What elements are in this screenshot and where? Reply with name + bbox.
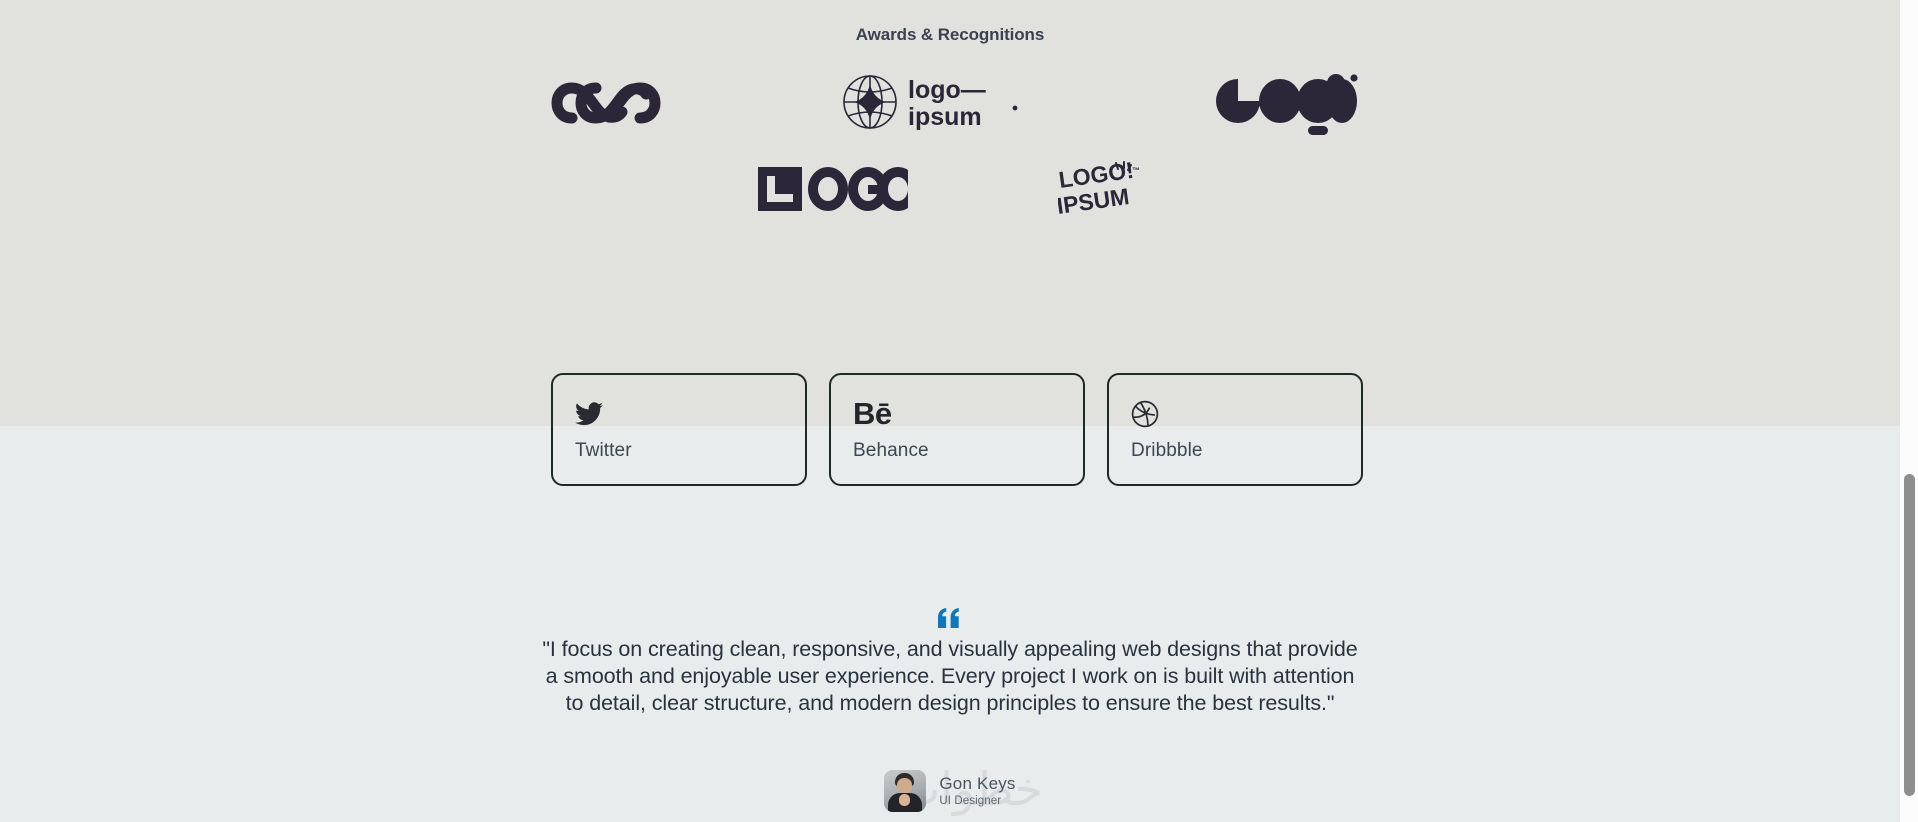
dribbble-ball-icon	[1131, 400, 1159, 428]
square-l-logo	[756, 150, 908, 230]
social-card-label: Twitter	[575, 440, 805, 462]
svg-text:logo—: logo—	[908, 76, 986, 104]
quote-author: Gon Keys UI Designer	[0, 770, 1900, 812]
svg-text:ipsum: ipsum	[908, 103, 982, 131]
scrollbar-gutter-top	[1882, 0, 1900, 426]
dribbble-icon	[1131, 397, 1361, 431]
quote-glyph-icon	[938, 608, 962, 628]
bold-logo-wordmark	[1210, 62, 1358, 142]
quote-mark-icon	[0, 604, 1900, 634]
social-card-behance[interactable]: Bē Behance	[829, 373, 1085, 486]
author-role: UI Designer	[939, 795, 1015, 808]
social-links-row: Twitter Bē Behance Dribbble	[551, 373, 1363, 486]
awards-logo-row-1: logo— ipsum	[0, 62, 1900, 142]
globe-logo-ipsum-icon: logo— ipsum	[840, 70, 1040, 134]
handwritten-logo-ipsum-logo: LOGO! IPSUM ™	[1058, 150, 1144, 230]
avatar	[884, 770, 926, 812]
svg-text:™: ™	[1132, 166, 1140, 175]
scrollbar-track[interactable]	[1900, 0, 1918, 822]
twitter-icon	[575, 397, 805, 431]
chain-loops-logo	[542, 62, 670, 142]
social-card-twitter[interactable]: Twitter	[551, 373, 807, 486]
globe-logo-ipsum-logo: logo— ipsum	[840, 62, 1040, 142]
bold-logo-wordmark-icon	[1210, 69, 1358, 135]
page-content: Awards & Recognitions	[0, 0, 1900, 822]
social-card-dribbble[interactable]: Dribbble	[1107, 373, 1363, 486]
social-card-label: Dribbble	[1131, 440, 1361, 462]
author-meta: Gon Keys UI Designer	[939, 774, 1015, 809]
twitter-bird-icon	[575, 402, 603, 426]
awards-logo-row-2: LOGO! IPSUM ™	[0, 150, 1900, 230]
handwritten-logo-ipsum-icon: LOGO! IPSUM ™	[1058, 159, 1144, 221]
chain-loops-icon	[542, 74, 670, 130]
square-l-logo-icon	[756, 165, 908, 215]
author-name: Gon Keys	[939, 774, 1015, 794]
quote-text: "I focus on creating clean, responsive, …	[540, 636, 1360, 717]
scrollbar-thumb[interactable]	[1904, 474, 1915, 796]
behance-icon: Bē	[853, 397, 1083, 431]
social-card-label: Behance	[853, 440, 1083, 462]
awards-section-title: Awards & Recognitions	[0, 25, 1900, 45]
